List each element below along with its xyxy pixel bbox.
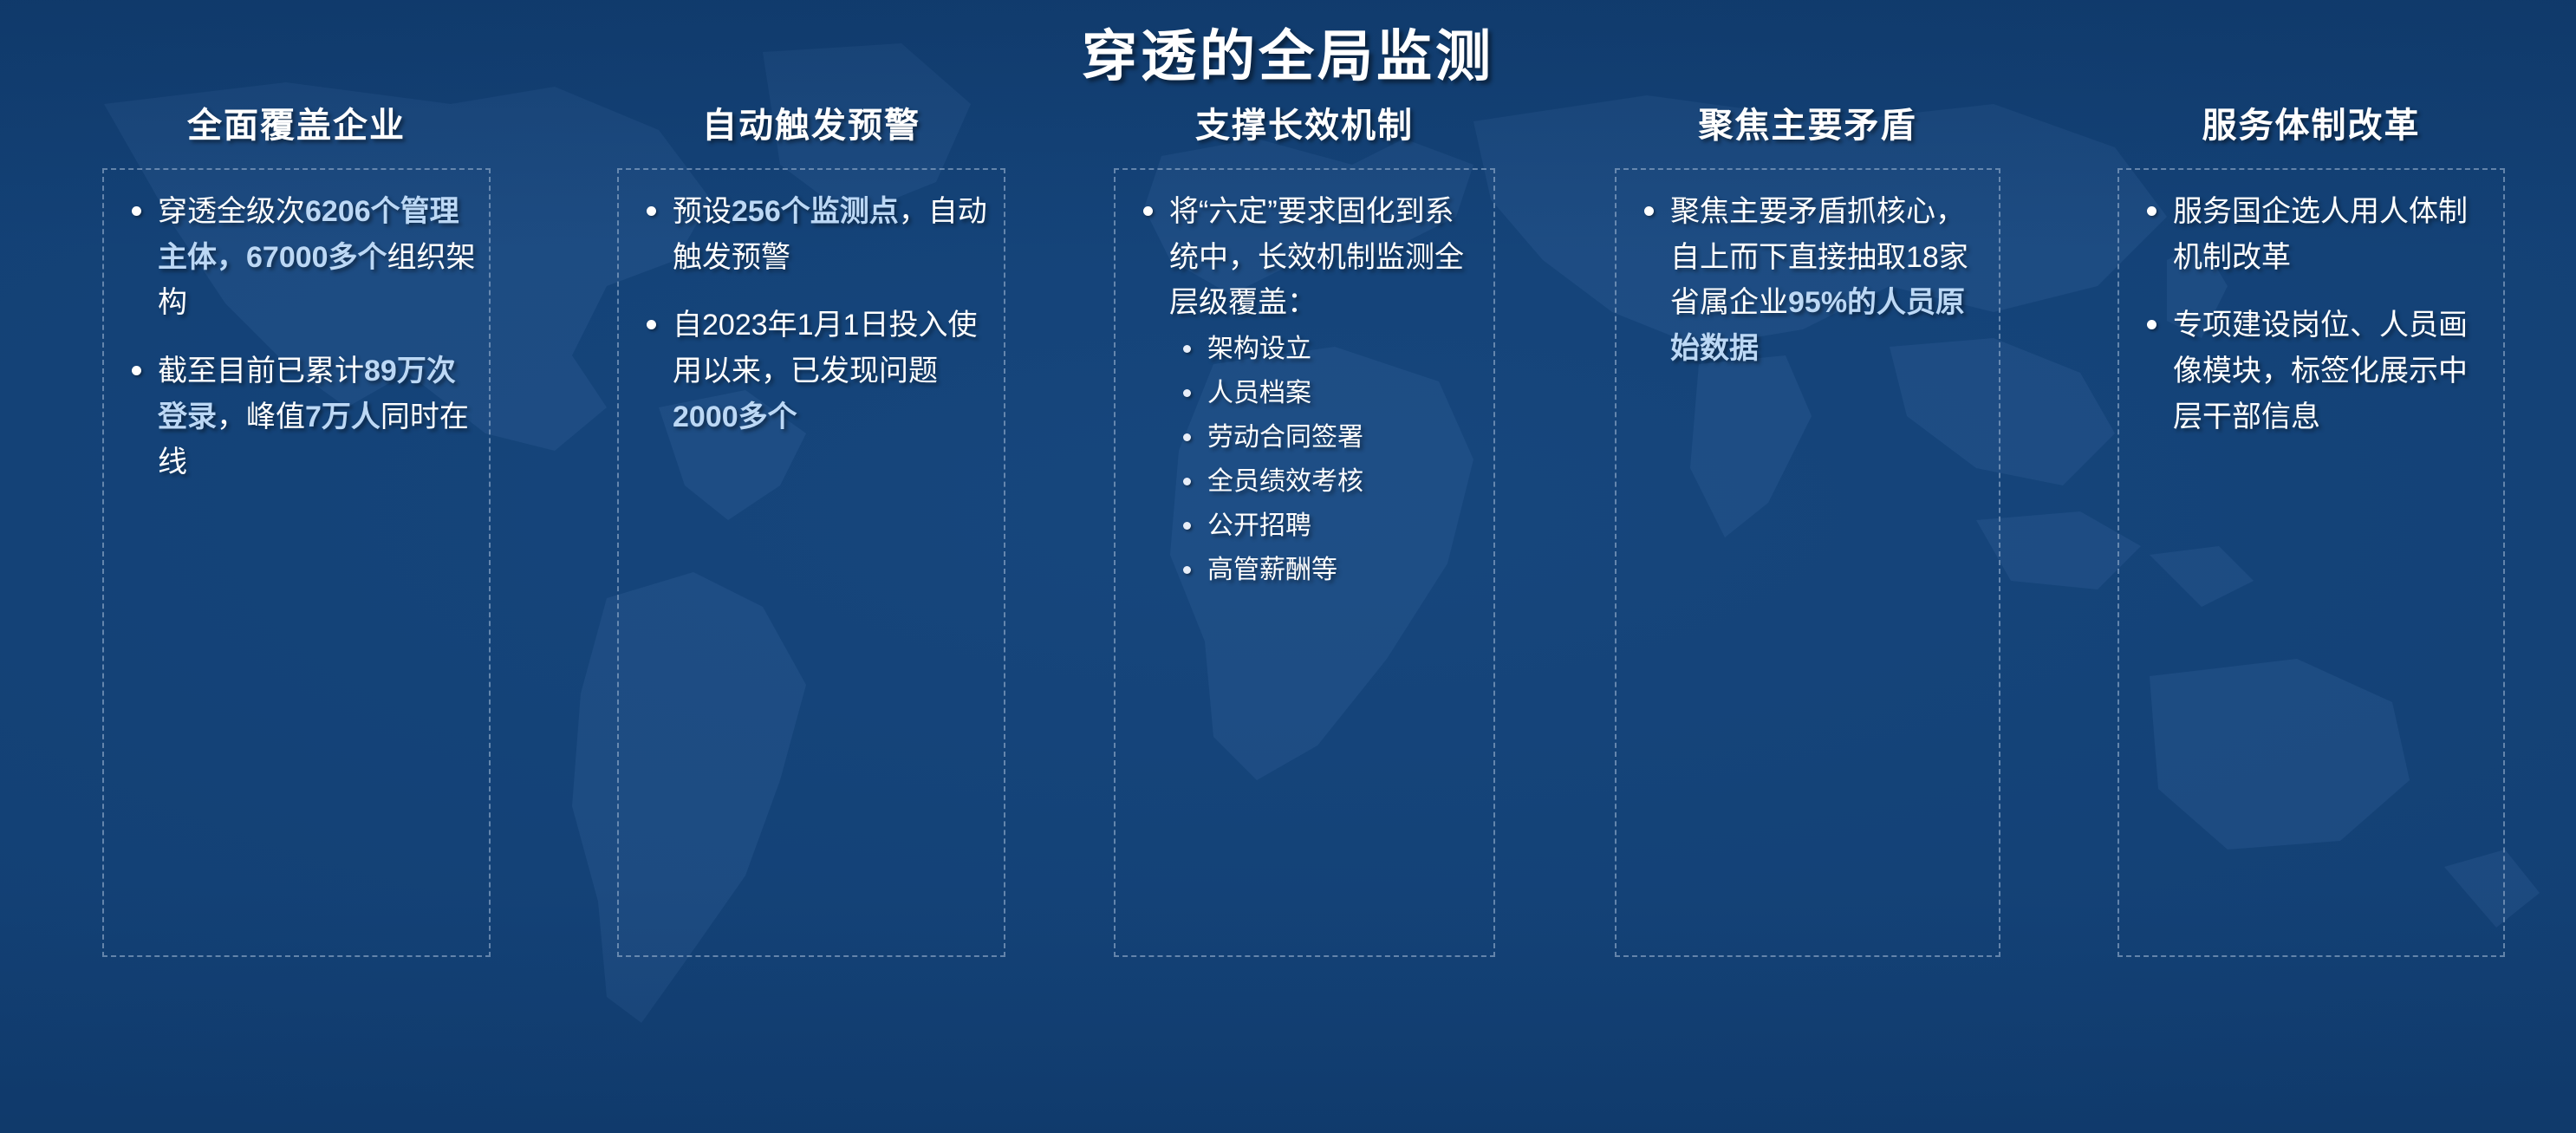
bullet-item: 专项建设岗位、人员画像模块，标签化展示中层干部信息: [2128, 303, 2491, 440]
bullet-list: 聚焦主要矛盾抓核心，自上而下直接抽取18家省属企业95%的人员原始数据: [1625, 189, 1987, 372]
dashed-content-box: 服务国企选人用人体制机制改革专项建设岗位、人员画像模块，标签化展示中层干部信息: [2117, 168, 2505, 957]
column-heading: 全面覆盖企业: [102, 97, 491, 147]
body-text: 专项建设岗位、人员画像模块，标签化展示中层干部信息: [2173, 309, 2468, 433]
page-title: 穿透的全局监测: [0, 12, 2576, 92]
dashed-content-box: 穿透全级次6206个管理主体，67000多个组织架构截至目前已累计89万次登录，…: [102, 168, 491, 957]
highlight-text: 7万人: [305, 400, 381, 433]
column-heading: 聚焦主要矛盾: [1615, 97, 2000, 147]
column-0: 全面覆盖企业穿透全级次6206个管理主体，67000多个组织架构截至目前已累计8…: [102, 97, 491, 957]
body-text: 穿透全级次: [158, 195, 305, 228]
columns-container: 全面覆盖企业穿透全级次6206个管理主体，67000多个组织架构截至目前已累计8…: [0, 97, 2576, 1051]
body-text: ，峰值: [217, 400, 305, 433]
bullet-list: 服务国企选人用人体制机制改革专项建设岗位、人员画像模块，标签化展示中层干部信息: [2128, 189, 2491, 440]
bullet-list: 穿透全级次6206个管理主体，67000多个组织架构截至目前已累计89万次登录，…: [113, 189, 477, 485]
bullet-item: 聚焦主要矛盾抓核心，自上而下直接抽取18家省属企业95%的人员原始数据: [1625, 189, 1987, 372]
bullet-item: 预设256个监测点，自动触发预警: [628, 189, 992, 280]
bullet-list: 将“六定”要求固化到系统中，长效机制监测全层级覆盖：架构设立人员档案劳动合同签署…: [1124, 189, 1481, 589]
sub-bullet-item: 公开招聘: [1169, 506, 1481, 545]
body-text: 服务国企选人用人体制机制改革: [2173, 195, 2468, 274]
sub-bullet-item: 高管薪酬等: [1169, 550, 1481, 589]
body-text: 将“六定”要求固化到系统中，长效机制监测全层级覆盖：: [1169, 195, 1464, 319]
dashed-content-box: 预设256个监测点，自动触发预警自2023年1月1日投入使用以来，已发现问题20…: [617, 168, 1005, 957]
bullet-item: 截至目前已累计89万次登录，峰值7万人同时在线: [113, 348, 477, 485]
column-heading: 自动触发预警: [617, 97, 1005, 147]
column-1: 自动触发预警预设256个监测点，自动触发预警自2023年1月1日投入使用以来，已…: [617, 97, 1005, 957]
dashed-content-box: 将“六定”要求固化到系统中，长效机制监测全层级覆盖：架构设立人员档案劳动合同签署…: [1114, 168, 1495, 957]
bullet-list: 预设256个监测点，自动触发预警自2023年1月1日投入使用以来，已发现问题20…: [628, 189, 992, 440]
dashed-content-box: 聚焦主要矛盾抓核心，自上而下直接抽取18家省属企业95%的人员原始数据: [1615, 168, 2000, 957]
column-3: 聚焦主要矛盾聚焦主要矛盾抓核心，自上而下直接抽取18家省属企业95%的人员原始数…: [1615, 97, 2000, 957]
sub-bullet-list: 架构设立人员档案劳动合同签署全员绩效考核公开招聘高管薪酬等: [1169, 329, 1481, 589]
bullet-item: 将“六定”要求固化到系统中，长效机制监测全层级覆盖：架构设立人员档案劳动合同签署…: [1124, 189, 1481, 589]
column-2: 支撑长效机制将“六定”要求固化到系统中，长效机制监测全层级覆盖：架构设立人员档案…: [1114, 97, 1495, 957]
body-text: 预设: [673, 195, 732, 228]
bullet-item: 穿透全级次6206个管理主体，67000多个组织架构: [113, 189, 477, 326]
column-heading: 支撑长效机制: [1114, 97, 1495, 147]
bullet-item: 自2023年1月1日投入使用以来，已发现问题2000多个: [628, 303, 992, 440]
highlight-text: 2000多个: [673, 400, 797, 433]
column-4: 服务体制改革服务国企选人用人体制机制改革专项建设岗位、人员画像模块，标签化展示中…: [2117, 97, 2505, 957]
sub-bullet-item: 劳动合同签署: [1169, 418, 1481, 457]
sub-bullet-item: 全员绩效考核: [1169, 462, 1481, 501]
body-text: 自2023年1月1日投入使用以来，已发现问题: [673, 309, 977, 387]
highlight-text: 256个监测点: [732, 195, 899, 228]
slide-root: 穿透的全局监测 全面覆盖企业穿透全级次6206个管理主体，67000多个组织架构…: [0, 0, 2576, 1133]
column-heading: 服务体制改革: [2117, 97, 2505, 147]
sub-bullet-item: 人员档案: [1169, 374, 1481, 413]
bullet-item: 服务国企选人用人体制机制改革: [2128, 189, 2491, 280]
sub-bullet-item: 架构设立: [1169, 329, 1481, 368]
body-text: 截至目前已累计: [158, 355, 364, 387]
